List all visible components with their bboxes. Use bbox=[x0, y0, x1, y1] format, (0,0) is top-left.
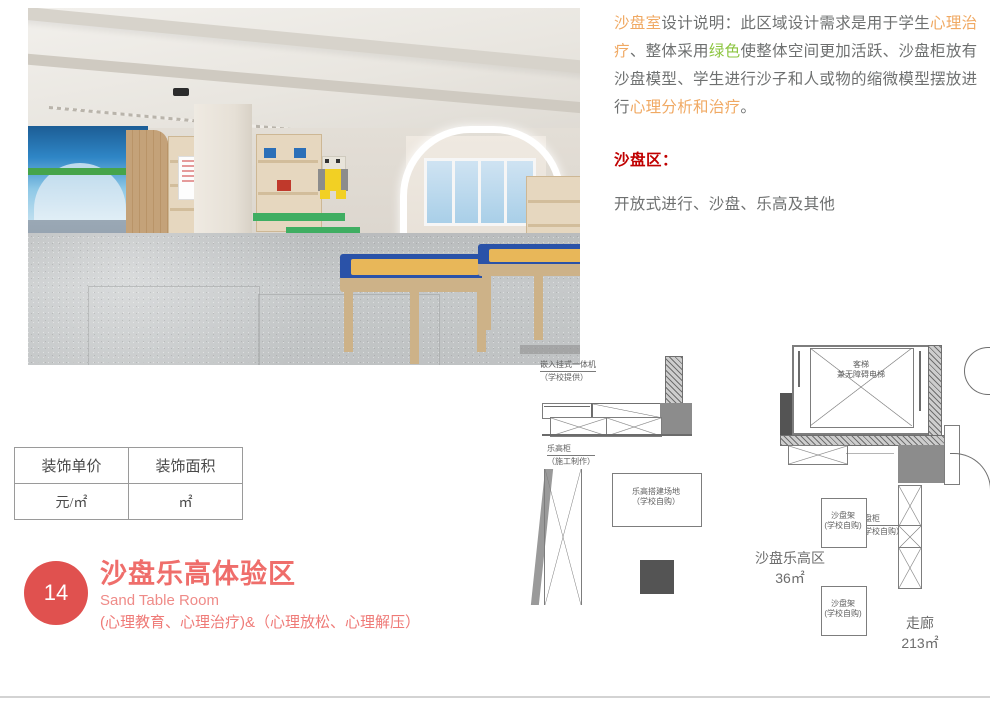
sand-table-back bbox=[478, 244, 580, 336]
green-accent-band bbox=[28, 168, 136, 175]
wood-wall-panel bbox=[126, 130, 168, 238]
shelf-board bbox=[528, 224, 580, 227]
label-sand-rack-2: 沙盘架 (学校自购) bbox=[821, 599, 865, 619]
room-subtitle: (心理教育、心理治疗)&（心理放松、心理解压） bbox=[100, 612, 420, 634]
room-title-en: Sand Table Room bbox=[100, 591, 420, 611]
title-text-group: 沙盘乐高体验区 Sand Table Room (心理教育、心理治疗)&（心理放… bbox=[100, 558, 420, 634]
plan-wall-hatch bbox=[665, 356, 683, 406]
green-activity-table bbox=[253, 213, 345, 221]
plan-door-swing-arc bbox=[950, 453, 990, 490]
section-title-sand-zone: 沙盘区： bbox=[614, 148, 986, 170]
plan-sand-cabinet-x bbox=[898, 547, 922, 589]
description-paragraph: 沙盘室设计说明：此区域设计需求是用于学生心理治疗、整体采用绿色使整体空间更加活跃… bbox=[614, 10, 986, 122]
label-lego-cabinet: 乐高柜 （施工制作） bbox=[547, 443, 595, 467]
desc-text-2: 、整体采用 bbox=[630, 43, 709, 60]
area-value-corridor: 213㎡ bbox=[860, 633, 980, 653]
plan-column bbox=[660, 403, 692, 435]
room-title-block: 14 沙盘乐高体验区 Sand Table Room (心理教育、心理治疗)&（… bbox=[24, 558, 420, 634]
desc-highlight-room: 沙盘室 bbox=[614, 15, 661, 32]
floor-tile bbox=[88, 286, 260, 365]
plan-wall-hatch bbox=[928, 345, 942, 439]
header-area: 装饰面积 bbox=[129, 448, 243, 484]
toy-box bbox=[264, 148, 276, 158]
header-unit-price: 装饰单价 bbox=[15, 448, 129, 484]
plan-edge-mark bbox=[520, 345, 580, 354]
desc-highlight-green: 绿色 bbox=[709, 43, 741, 60]
plan-wall-line bbox=[542, 434, 692, 436]
plan-leader-line bbox=[846, 453, 894, 454]
area-name-corridor: 走廊 bbox=[860, 613, 980, 633]
plan-grey-block bbox=[898, 445, 944, 483]
decoration-price-table: 装饰单价 装饰面积 元/㎡ ㎡ bbox=[14, 447, 243, 520]
plan-cabinet-x bbox=[788, 445, 848, 465]
desc-highlight-analysis: 心理分析和治疗 bbox=[630, 99, 741, 116]
ceiling-spotlight bbox=[173, 88, 189, 96]
plan-door-swing-arc bbox=[964, 347, 990, 395]
footer-divider bbox=[0, 696, 990, 698]
toy-figure bbox=[277, 180, 291, 191]
description-panel: 沙盘室设计说明：此区域设计需求是用于学生心理治疗、整体采用绿色使整体空间更加活跃… bbox=[614, 10, 986, 214]
room-render-photo bbox=[28, 8, 580, 365]
area-value-sand-lego-zone: 36㎡ bbox=[730, 568, 850, 588]
plan-shaft-detail bbox=[919, 351, 921, 411]
table-row-units: 元/㎡ ㎡ bbox=[15, 484, 243, 520]
area-name-sand-lego-zone: 沙盘乐高区 bbox=[730, 548, 850, 568]
value-area: ㎡ bbox=[129, 484, 243, 520]
shelf-board bbox=[528, 200, 580, 203]
sand-table-front bbox=[340, 254, 490, 354]
desc-text-4: 。 bbox=[740, 99, 756, 116]
shelf-board bbox=[258, 160, 318, 163]
label-elevator: 客梯 兼无障碍电梯 bbox=[810, 360, 912, 380]
index-badge: 14 bbox=[24, 561, 88, 625]
plan-dark-block bbox=[640, 560, 674, 594]
lego-wall-art bbox=[318, 156, 348, 200]
desc-text-1: 设计说明：此区域设计需求是用于学生 bbox=[661, 15, 930, 32]
plan-cabinet-divider bbox=[544, 406, 590, 407]
toy-box bbox=[294, 148, 306, 158]
plan-shaft-detail bbox=[798, 351, 800, 387]
value-unit-price: 元/㎡ bbox=[15, 484, 129, 520]
shelf-board bbox=[258, 192, 318, 195]
plan-core-wall bbox=[780, 393, 792, 439]
plan-curved-wall-hatch bbox=[544, 469, 582, 605]
label-embedded-wall-machine: 嵌入挂式一体机 （学校提供） bbox=[540, 359, 596, 383]
floor-plan-drawing: 嵌入挂式一体机 （学校提供） 乐高柜 （施工制作） 乐高搭建场地 （学校自购） … bbox=[520, 345, 990, 665]
label-sand-rack-1: 沙盘架 (学校自购) bbox=[821, 511, 865, 531]
room-title-cn: 沙盘乐高体验区 bbox=[100, 558, 420, 590]
label-lego-build-site: 乐高搭建场地 （学校自购） bbox=[612, 487, 700, 507]
table-row-headers: 装饰单价 装饰面积 bbox=[15, 448, 243, 484]
section-body-sand-zone: 开放式进行、沙盘、乐高及其他 bbox=[614, 192, 986, 214]
